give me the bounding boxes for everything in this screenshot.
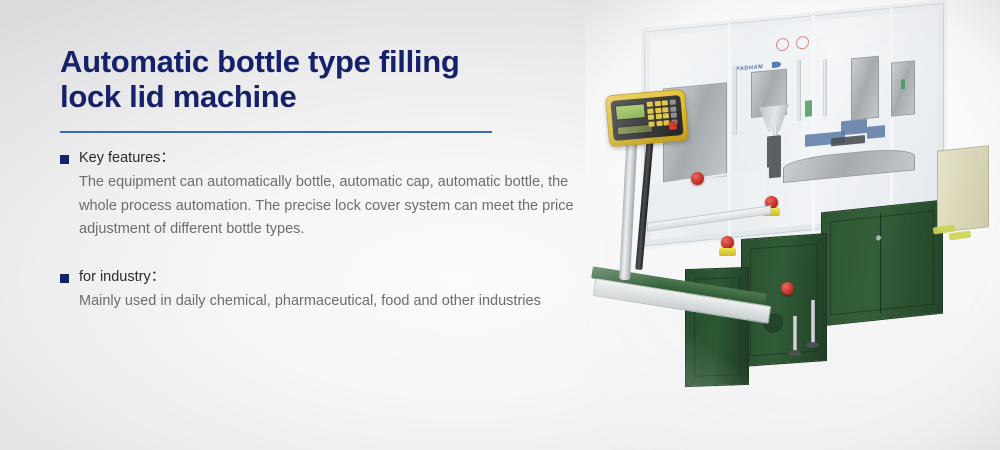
steel-panel <box>851 56 879 121</box>
square-bullet-icon <box>60 274 69 283</box>
control-panel <box>605 89 689 148</box>
pneumatic-part <box>841 119 867 136</box>
outfeed-frame <box>937 145 989 232</box>
product-banner: Automatic bottle type filling lock lid m… <box>0 0 1000 450</box>
keypad-key <box>649 121 655 127</box>
feature-label: Key features： <box>79 150 175 167</box>
cabinet-door <box>830 211 934 316</box>
product-photo: PADHAM <box>585 0 1000 450</box>
photo-backdrop: PADHAM <box>585 0 1000 450</box>
power-button <box>668 121 677 130</box>
machine-foot-pad <box>788 350 801 356</box>
title-divider <box>60 131 492 133</box>
keypad-key <box>656 114 662 120</box>
machine-cabinet <box>821 200 943 327</box>
keypad-key <box>648 115 654 121</box>
machine-leg <box>811 300 815 344</box>
lcd-display <box>615 103 646 121</box>
adjustable-foot <box>949 231 972 241</box>
square-bullet-icon <box>60 155 69 164</box>
machine-part <box>767 135 781 178</box>
emergency-stop-button <box>781 282 794 295</box>
emergency-stop-button <box>691 172 704 185</box>
label-strip <box>617 124 654 136</box>
pipe <box>823 59 827 117</box>
indicator-light <box>805 100 812 117</box>
feature-description: Mainly used in daily chemical, pharmaceu… <box>79 290 584 313</box>
keypad-key <box>662 100 668 106</box>
keypad-key <box>647 101 653 107</box>
pneumatic-part <box>867 125 885 139</box>
keypad-key <box>656 120 662 126</box>
machine-leg <box>793 316 797 352</box>
emergency-stop-base <box>719 248 736 256</box>
pendant-pole <box>619 130 638 280</box>
indicator-light <box>901 79 905 89</box>
pipe <box>733 65 737 135</box>
feature-heading: Key features： <box>60 150 600 167</box>
machine-foot-pad <box>806 342 819 348</box>
control-panel-face <box>610 95 683 141</box>
pipe <box>797 59 801 121</box>
feature-description: The equipment can automatically bottle, … <box>79 171 591 241</box>
keypad-key <box>671 113 677 119</box>
feature-heading: for industry： <box>60 269 600 286</box>
keypad-key <box>670 99 676 105</box>
feature-block-key-features: Key features： The equipment can automati… <box>60 150 600 242</box>
page-title: Automatic bottle type filling lock lid m… <box>60 44 600 114</box>
keypad-key <box>655 107 661 113</box>
banner-content: Automatic bottle type filling lock lid m… <box>60 44 600 314</box>
rotary-table <box>783 146 915 183</box>
keypad-key <box>663 107 669 113</box>
feature-label: for industry： <box>79 269 165 286</box>
keypad-key <box>647 108 653 114</box>
keypad-key <box>654 101 660 107</box>
keypad-key <box>670 106 676 112</box>
feature-block-for-industry: for industry： Mainly used in daily chemi… <box>60 269 600 314</box>
keypad-key <box>663 113 669 119</box>
cabinet-seam <box>880 213 881 313</box>
